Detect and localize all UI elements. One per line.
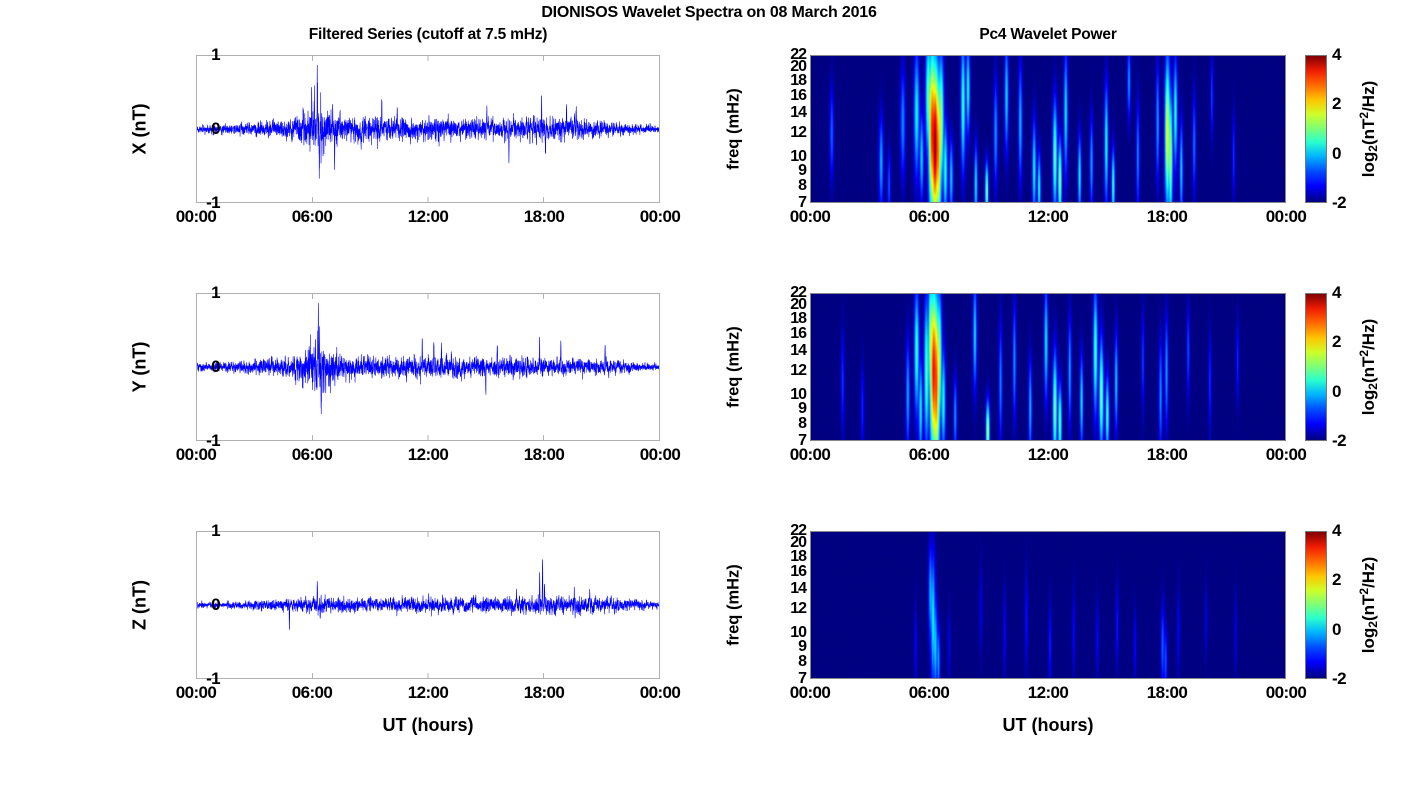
wavelet-ytick-Y-4: 14: [772, 342, 806, 360]
series-xtick-Z-2: 12:00: [408, 683, 448, 703]
series-xtick-Y-4: 00:00: [640, 445, 680, 465]
series-xtick-X-3: 18:00: [524, 207, 564, 227]
wavelet-ytick-Y-3: 16: [772, 325, 806, 343]
wavelet-ytick-Y-5: 12: [772, 362, 806, 380]
series-xtick-Z-1: 06:00: [292, 683, 332, 703]
wavelet-xtick-Y-0: 00:00: [790, 445, 830, 465]
wavelet-ytick-Z-5: 12: [772, 600, 806, 618]
series-ytick-X-1: 0: [186, 119, 220, 139]
colorbar-tick-Y-0: 4: [1332, 283, 1341, 303]
wavelet-xtick-Z-1: 06:00: [909, 683, 949, 703]
series-trace-Y: [197, 294, 659, 440]
colorbar-tick-X-2: 0: [1332, 144, 1341, 164]
series-ylabel-Z: Z (nT): [130, 580, 151, 630]
wavelet-xtick-Y-2: 12:00: [1028, 445, 1068, 465]
wavelet-plot-Z: [810, 531, 1286, 679]
wavelet-xtick-Z-4: 00:00: [1266, 683, 1306, 703]
series-xtick-X-0: 00:00: [176, 207, 216, 227]
wavelet-xtick-Z-2: 12:00: [1028, 683, 1068, 703]
colorbar-tick-Y-2: 0: [1332, 382, 1341, 402]
wavelet-xtick-X-4: 00:00: [1266, 207, 1306, 227]
wavelet-ytick-Z-3: 16: [772, 563, 806, 581]
wavelet-xtick-Y-4: 00:00: [1266, 445, 1306, 465]
series-xtick-Y-1: 06:00: [292, 445, 332, 465]
series-xtick-Z-3: 18:00: [524, 683, 564, 703]
wavelet-ytick-X-5: 12: [772, 124, 806, 142]
xlabel-right: UT (hours): [1003, 715, 1094, 736]
series-xtick-Z-4: 00:00: [640, 683, 680, 703]
series-xtick-Y-0: 00:00: [176, 445, 216, 465]
series-ylabel-X: X (nT): [130, 104, 151, 155]
series-ytick-X-0: 1: [186, 45, 220, 65]
wavelet-image-Z: [811, 532, 1285, 678]
wavelet-image-Y: [811, 294, 1285, 440]
colorbar-tick-Z-3: -2: [1332, 669, 1346, 689]
colorbar-label-Z: log2(nT2/Hz): [1359, 557, 1379, 653]
wavelet-ytick-X-4: 14: [772, 104, 806, 122]
series-trace-X: [197, 56, 659, 202]
wavelet-image-X: [811, 56, 1285, 202]
colorbar-tick-X-3: -2: [1332, 193, 1346, 213]
colorbar-tick-X-1: 2: [1332, 94, 1341, 114]
wavelet-ytick-Y-8: 8: [772, 415, 806, 433]
series-ytick-Z-1: 0: [186, 595, 220, 615]
xlabel-left: UT (hours): [383, 715, 474, 736]
series-xtick-X-1: 06:00: [292, 207, 332, 227]
wavelet-xtick-Y-1: 06:00: [909, 445, 949, 465]
series-plot-Y: [196, 293, 660, 441]
wavelet-ytick-X-8: 8: [772, 177, 806, 195]
figure-canvas: DIONISOS Wavelet Spectra on 08 March 201…: [0, 0, 1418, 788]
wavelet-plot-Y: [810, 293, 1286, 441]
wavelet-xtick-Z-3: 18:00: [1147, 683, 1187, 703]
colorbar-X: [1305, 55, 1327, 203]
series-plot-Z: [196, 531, 660, 679]
colorbar-tick-Z-2: 0: [1332, 620, 1341, 640]
colorbar-label-X: log2(nT2/Hz): [1359, 81, 1379, 177]
series-xtick-Y-2: 12:00: [408, 445, 448, 465]
wavelet-xtick-X-1: 06:00: [909, 207, 949, 227]
colorbar-tick-Y-1: 2: [1332, 332, 1341, 352]
series-ytick-Y-0: 1: [186, 283, 220, 303]
wavelet-ytick-Z-4: 14: [772, 580, 806, 598]
series-ylabel-Y: Y (nT): [130, 342, 151, 393]
wavelet-ylabel-Z: freq (mHz): [725, 564, 744, 646]
right-column-title: Pc4 Wavelet Power: [810, 26, 1286, 44]
wavelet-xtick-X-0: 00:00: [790, 207, 830, 227]
colorbar-tick-Y-3: -2: [1332, 431, 1346, 451]
colorbar-label-Y: log2(nT2/Hz): [1359, 319, 1379, 415]
series-xtick-X-2: 12:00: [408, 207, 448, 227]
wavelet-ytick-Z-8: 8: [772, 653, 806, 671]
figure-suptitle: DIONISOS Wavelet Spectra on 08 March 201…: [0, 4, 1418, 22]
series-ytick-Z-0: 1: [186, 521, 220, 541]
wavelet-ylabel-Y: freq (mHz): [725, 326, 744, 408]
wavelet-xtick-Y-3: 18:00: [1147, 445, 1187, 465]
series-xtick-Y-3: 18:00: [524, 445, 564, 465]
wavelet-xtick-X-3: 18:00: [1147, 207, 1187, 227]
series-xtick-Z-0: 00:00: [176, 683, 216, 703]
colorbar-tick-Z-1: 2: [1332, 570, 1341, 590]
series-xtick-X-4: 00:00: [640, 207, 680, 227]
series-plot-X: [196, 55, 660, 203]
wavelet-xtick-Z-0: 00:00: [790, 683, 830, 703]
wavelet-ytick-X-3: 16: [772, 87, 806, 105]
colorbar-tick-Z-0: 4: [1332, 521, 1341, 541]
series-trace-Z: [197, 532, 659, 678]
left-column-title: Filtered Series (cutoff at 7.5 mHz): [196, 26, 660, 44]
colorbar-Y: [1305, 293, 1327, 441]
wavelet-xtick-X-2: 12:00: [1028, 207, 1068, 227]
wavelet-ylabel-X: freq (mHz): [725, 88, 744, 170]
colorbar-tick-X-0: 4: [1332, 45, 1341, 65]
colorbar-Z: [1305, 531, 1327, 679]
series-ytick-Y-1: 0: [186, 357, 220, 377]
wavelet-plot-X: [810, 55, 1286, 203]
